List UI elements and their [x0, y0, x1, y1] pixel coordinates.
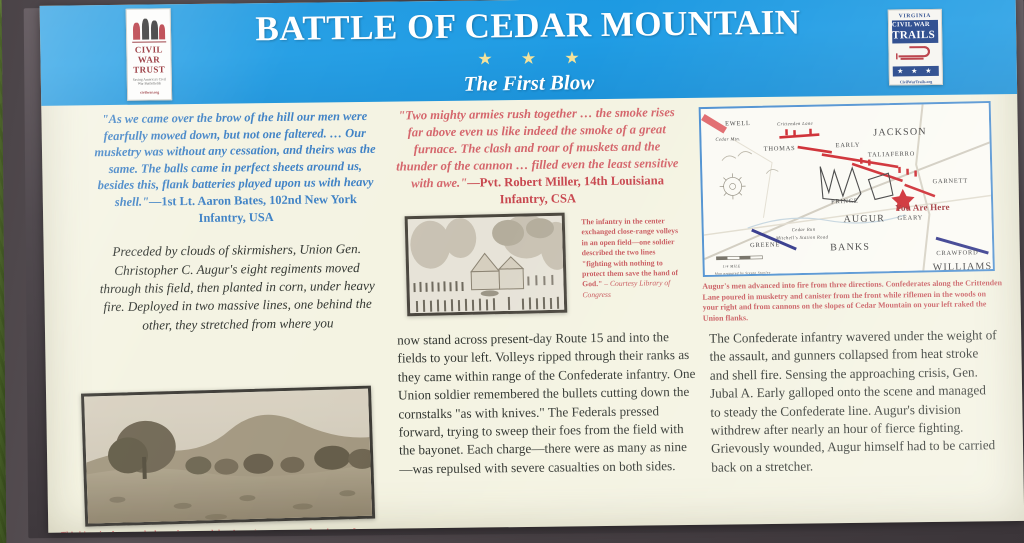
map-label-early: EARLY [836, 142, 861, 150]
cwt-url: civilwar.org [140, 90, 159, 94]
vt-stars-icon: ★ ★ ★ [893, 66, 939, 77]
title-block: BATTLE OF CEDAR MOUNTAIN ★ ★ ★ The First… [198, 0, 860, 100]
left-body-text: Preceded by clouds of skirmishers, Union… [96, 240, 380, 335]
map-label-taliaferro: TALIAFERRO [868, 151, 915, 159]
cwt-tagline: Saving America's Civil War Battlefields [130, 77, 168, 86]
civil-war-trust-logo: CIVIL WAR TRUST Saving America's Civil W… [126, 8, 173, 101]
battle-map: EWELL JACKSON THOMAS EARLY TALIAFERRO GA… [699, 101, 995, 277]
cwt-line-3: TRUST [133, 64, 165, 74]
historic-photograph [81, 386, 375, 527]
left-quote-attribution: —1st Lt. Aaron Bates, 102nd New York Inf… [149, 192, 357, 225]
map-label-thomas: THOMAS [764, 145, 796, 153]
battle-engraving [405, 213, 568, 317]
map-label-ewell: EWELL [725, 120, 751, 128]
right-body-text: The Confederate infantry wavered under t… [709, 326, 999, 477]
map-label-williams: WILLIAMS [933, 261, 993, 273]
logo-divider [132, 41, 166, 42]
map-feature-cedar-run: Cedar Run [792, 227, 816, 232]
interpretive-sign-panel: CIVIL WAR TRUST Saving America's Civil W… [40, 0, 1024, 533]
page-title: BATTLE OF CEDAR MOUNTAIN [198, 4, 859, 49]
map-label-jackson: JACKSON [873, 126, 927, 138]
vt-blue-box: CIVIL WAR TRAILS [892, 20, 938, 44]
map-feature-cedar-mtn: Cedar Mtn. [715, 136, 740, 142]
sign-frame: CIVIL WAR TRUST Saving America's Civil W… [2, 0, 1024, 543]
you-are-here-label: You Are Here [895, 202, 950, 213]
map-credit: Map prepared by Steven Stanley [715, 271, 771, 276]
left-column: "As we came over the brow of the hill ou… [93, 108, 379, 336]
left-quote: "As we came over the brow of the hill ou… [93, 108, 377, 228]
map-caption: Augur's men advanced into fire from thre… [702, 278, 1003, 324]
map-label-augur: AUGUR [843, 213, 885, 225]
subtitle: The First Blow [199, 67, 859, 100]
three-soldiers-icon [130, 13, 166, 39]
vt-url: CivilWarTrails.org [900, 79, 933, 84]
middle-quote: "Two mighty armies rush together … the s… [391, 104, 683, 210]
map-scale-label: 1/4 MILE [723, 264, 741, 268]
middle-quote-attribution: —Pvt. Robert Miller, 14th Louisiana Infa… [467, 173, 664, 206]
map-label-banks: BANKS [830, 242, 870, 254]
map-label-geary: GEARY [897, 214, 923, 222]
virginia-civil-war-trails-logo: VIRGINIA CIVIL WAR TRAILS ★ ★ ★ CivilWar… [888, 9, 943, 86]
map-feature-crittenden-lane: Crittenden Lane [777, 121, 813, 127]
vt-line-2: TRAILS [892, 29, 938, 42]
map-label-greene: GREENE [750, 241, 780, 249]
cwt-line-1: CIVIL [135, 44, 163, 54]
sign-header: CIVIL WAR TRUST Saving America's Civil W… [40, 0, 1018, 106]
map-label-prince: PRINCE [831, 198, 859, 206]
sign-body: "As we came over the brow of the hill ou… [41, 94, 1024, 533]
map-label-garnett: GARNETT [932, 177, 968, 185]
middle-column: "Two mighty armies rush together … the s… [391, 104, 683, 210]
engraving-caption: The infantry in the center exchanged clo… [581, 216, 682, 300]
vt-state-label: VIRGINIA [899, 13, 931, 19]
bugle-icon [895, 45, 935, 64]
map-label-crawford: CRAWFORD [936, 249, 978, 257]
middle-body-text: now stand across present-day Route 15 an… [397, 328, 699, 479]
cwt-line-2: WAR [138, 54, 160, 64]
